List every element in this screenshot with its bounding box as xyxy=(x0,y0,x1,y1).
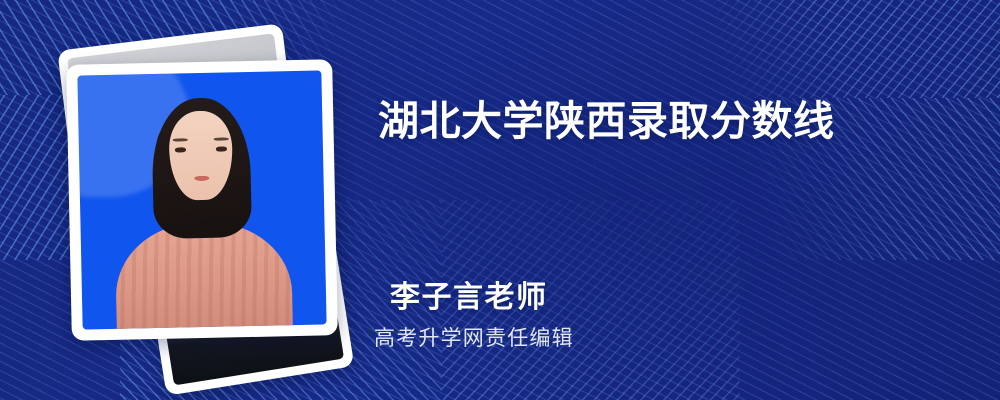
article-header-banner: 湖北大学陕西录取分数线 李子言老师 高考升学网责任编辑 xyxy=(0,0,1000,400)
author-portrait-photo xyxy=(77,70,326,329)
page-title: 湖北大学陕西录取分数线 xyxy=(378,96,835,146)
author-name: 李子言老师 xyxy=(390,272,548,316)
portrait-eyebrow-right xyxy=(214,137,229,140)
portrait-mouth xyxy=(194,176,209,182)
photo-card-stack xyxy=(55,28,365,373)
portrait-eye-right xyxy=(216,147,227,152)
portrait-eye-left xyxy=(175,147,186,152)
author-role: 高考升学网责任编辑 xyxy=(374,322,574,352)
portrait-eyebrow-left xyxy=(173,138,188,141)
photo-card-front xyxy=(66,59,338,341)
